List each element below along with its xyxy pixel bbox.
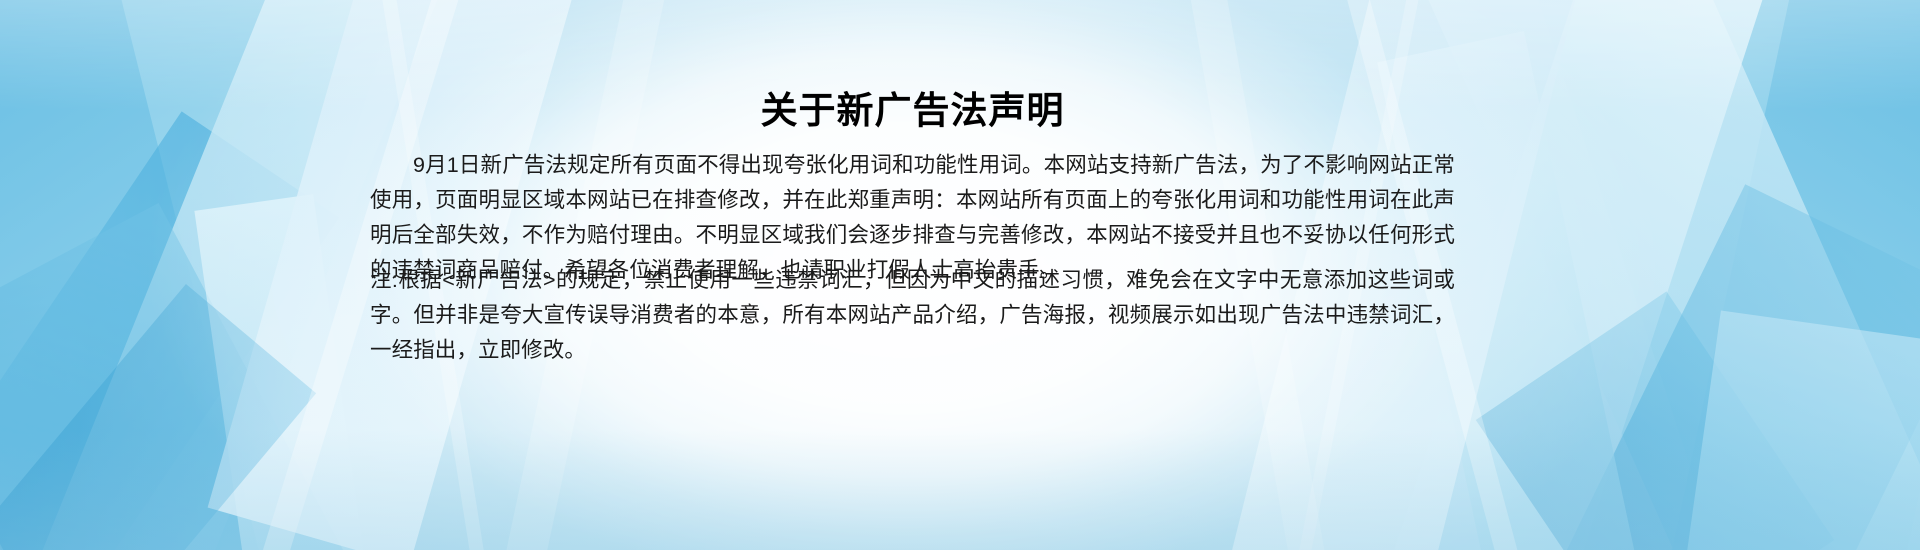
statement-paragraph-2: 注:根据<新广告法>的规定，禁止使用一些违禁词汇，但因为中文的描述习惯，难免会在… (370, 263, 1455, 368)
advertising-law-statement-banner: 关于新广告法声明 9月1日新广告法规定所有页面不得出现夸张化用词和功能性用词。本… (0, 0, 1920, 550)
statement-content: 关于新广告法声明 9月1日新广告法规定所有页面不得出现夸张化用词和功能性用词。本… (370, 0, 1455, 550)
page-title: 关于新广告法声明 (370, 92, 1455, 129)
